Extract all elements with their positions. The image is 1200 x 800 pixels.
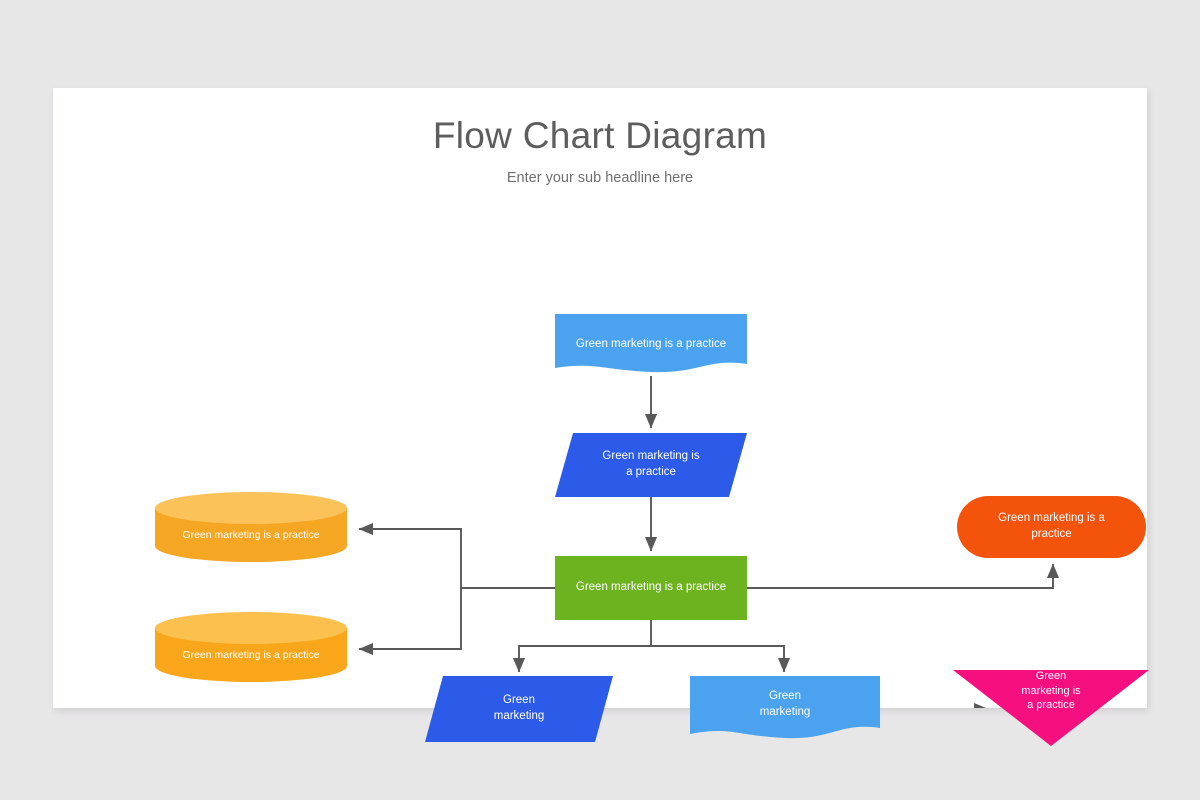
node-terminator[interactable]: Green marketing is a practice xyxy=(957,496,1146,558)
document-shape xyxy=(690,676,880,742)
edge-process-to-db-2 xyxy=(359,588,461,649)
flowchart-diagram: Green marketing is a practice Green mark… xyxy=(53,88,1147,708)
node-process[interactable]: Green marketing is a practice xyxy=(555,556,747,620)
node-doc-top[interactable]: Green marketing is a practice xyxy=(555,314,747,376)
node-database-1[interactable]: Green marketing is a practice xyxy=(153,492,349,562)
parallelogram-shape xyxy=(555,433,747,497)
rectangle-shape xyxy=(555,556,747,620)
slide-surface: Flow Chart Diagram Enter your sub headli… xyxy=(53,88,1147,708)
document-shape xyxy=(555,314,747,376)
screen: Flow Chart Diagram Enter your sub headli… xyxy=(0,0,1200,800)
triangle-down-shape xyxy=(953,670,1149,746)
node-parallelogram-top[interactable]: Green marketing is a practice xyxy=(555,433,747,497)
edge-process-to-terminator xyxy=(747,564,1053,588)
node-doc-bottom[interactable]: Green marketing xyxy=(690,676,880,742)
edge-process-to-doc-bottom xyxy=(651,646,784,672)
edge-process-to-para-bottom xyxy=(519,620,651,672)
stadium-shape xyxy=(957,496,1146,558)
parallelogram-shape xyxy=(425,676,613,742)
node-triangle[interactable]: Green marketing is a practice xyxy=(953,670,1149,746)
node-parallelogram-bottom[interactable]: Green marketing xyxy=(425,676,613,742)
cylinder-shape xyxy=(153,492,349,562)
cylinder-shape xyxy=(153,612,349,682)
node-database-2[interactable]: Green marketing is a practice xyxy=(153,612,349,682)
edge-process-to-db-1 xyxy=(359,529,555,588)
